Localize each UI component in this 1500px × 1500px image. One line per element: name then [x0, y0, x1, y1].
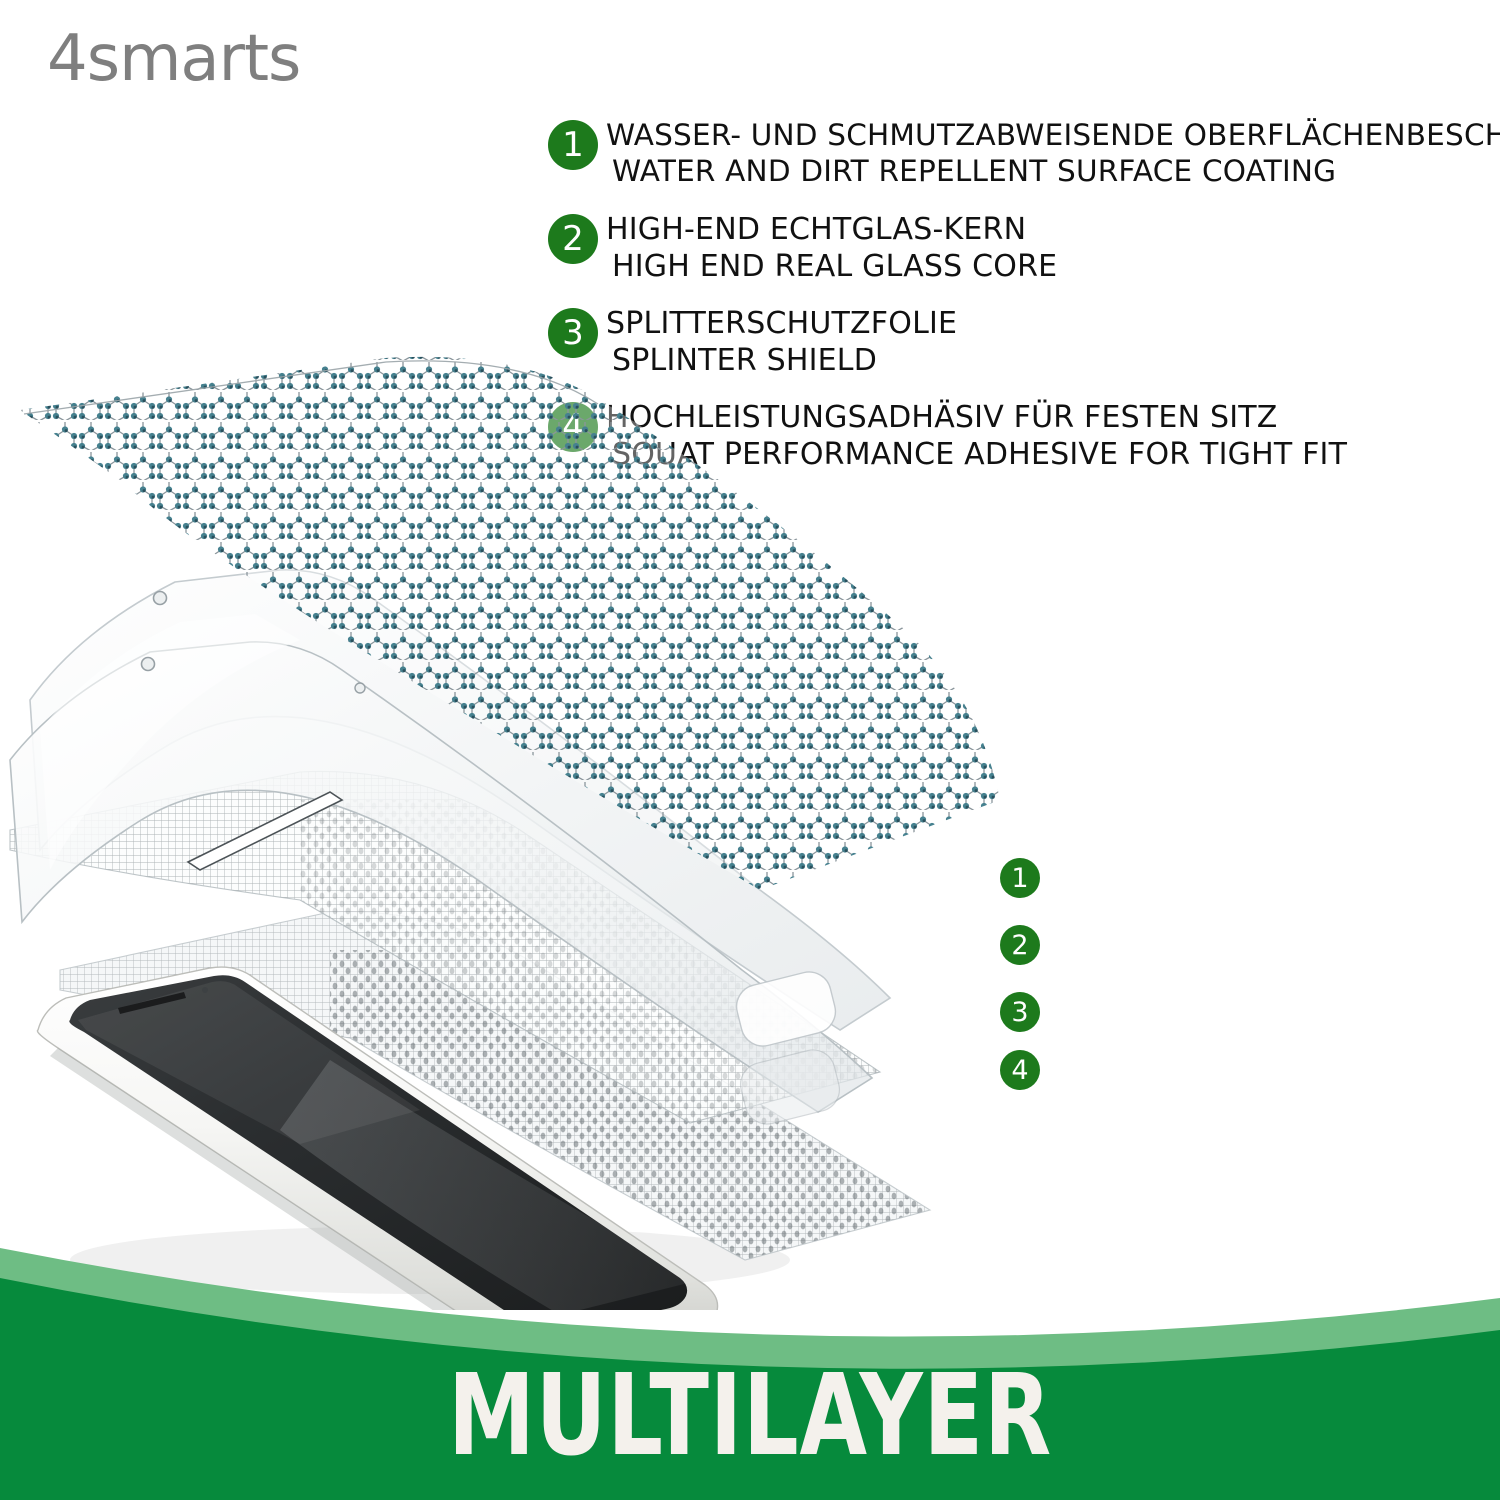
layer-callout-badge-4: 4 [1000, 1050, 1040, 1090]
layer-callout-badge-3: 3 [1000, 992, 1040, 1032]
feature-text-en: WATER AND DIRT REPELLENT SURFACE COATING [606, 154, 1500, 190]
infographic-page: 4smarts 1 WASSER- UND SCHMUTZABWEISENDE … [0, 0, 1500, 1500]
feature-badge-1: 1 [548, 120, 598, 170]
camera-hole [154, 592, 167, 605]
feature-badge-2: 2 [548, 214, 598, 264]
feature-item: 1 WASSER- UND SCHMUTZABWEISENDE OBERFLÄC… [548, 118, 1488, 198]
feature-text-en: HIGH END REAL GLASS CORE [606, 249, 1057, 286]
bottom-banner: MULTILAYER [0, 1180, 1500, 1500]
exploded-layers-illustration [0, 330, 1060, 1310]
brand-logo: 4smarts [47, 27, 300, 91]
feature-texts: HIGH-END ECHTGLAS-KERN HIGH END REAL GLA… [606, 212, 1057, 285]
device-sensor [202, 987, 208, 993]
banner-title: MULTILAYER [165, 1360, 1335, 1472]
feature-text-de: WASSER- UND SCHMUTZABWEISENDE OBERFLÄCHE… [606, 118, 1500, 154]
layer-callout-badge-2: 2 [1000, 925, 1040, 965]
camera-hole [355, 683, 365, 693]
feature-text-de: HIGH-END ECHTGLAS-KERN [606, 212, 1057, 249]
feature-item: 2 HIGH-END ECHTGLAS-KERN HIGH END REAL G… [548, 212, 1488, 292]
camera-hole [142, 658, 155, 671]
feature-texts: WASSER- UND SCHMUTZABWEISENDE OBERFLÄCHE… [606, 118, 1500, 190]
layer-callout-badge-1: 1 [1000, 858, 1040, 898]
